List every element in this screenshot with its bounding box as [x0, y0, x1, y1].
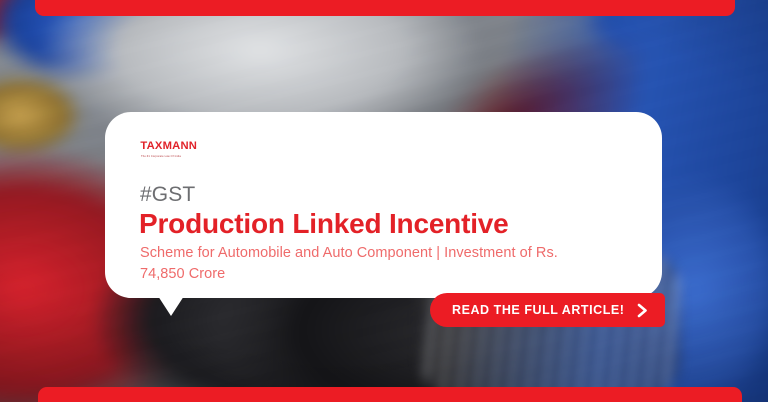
bottom-red-bar — [38, 387, 742, 402]
chevron-right-icon — [636, 303, 649, 318]
cta-label: READ THE FULL ARTICLE! — [452, 303, 625, 317]
read-full-article-button[interactable]: READ THE FULL ARTICLE! — [430, 293, 665, 327]
promo-banner: TAXMANN The #1 Corporate Law Of India #G… — [0, 0, 768, 402]
taxmann-logo[interactable]: TAXMANN The #1 Corporate Law Of India — [141, 140, 201, 159]
topic-kicker: #GST — [140, 182, 195, 208]
logo-tagline: The #1 Corporate Law Of India — [141, 154, 201, 159]
top-red-bar — [35, 0, 735, 16]
page-title: Production Linked Incentive — [139, 207, 509, 241]
logo-wordmark: TAXMANN — [140, 140, 201, 152]
speech-bubble-tail — [158, 296, 184, 316]
subtitle: Scheme for Automobile and Auto Component… — [140, 243, 560, 285]
